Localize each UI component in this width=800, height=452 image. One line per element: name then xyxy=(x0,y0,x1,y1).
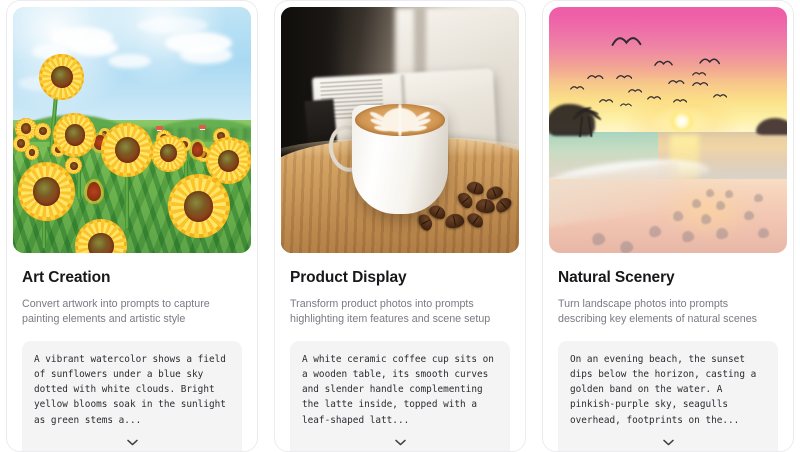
palm-trees xyxy=(549,100,613,137)
card-description: Turn landscape photos into prompts descr… xyxy=(558,297,778,328)
chevron-down-icon xyxy=(395,439,406,446)
seagull-icon xyxy=(599,96,613,106)
prompt-text: A vibrant watercolor shows a field of su… xyxy=(34,352,230,428)
card-product-display[interactable]: Product Display Transform product photos… xyxy=(274,0,526,452)
card-description: Convert artwork into prompts to capture … xyxy=(22,297,242,328)
card-image-product-display xyxy=(281,7,519,253)
seagull-icon xyxy=(570,83,584,93)
sunflower-field-illustration xyxy=(13,7,251,253)
card-body-art-creation: Art Creation Convert artwork into prompt… xyxy=(7,253,257,452)
seagull-icon xyxy=(692,69,706,79)
card-body-natural-scenery: Natural Scenery Turn landscape photos in… xyxy=(543,253,793,452)
card-body-product-display: Product Display Transform product photos… xyxy=(275,253,525,452)
expand-prompt-button[interactable] xyxy=(302,432,498,452)
seagull-icon xyxy=(628,86,642,96)
expand-prompt-button[interactable] xyxy=(570,432,766,452)
card-image-natural-scenery xyxy=(549,7,787,253)
prompt-preview-box[interactable]: On an evening beach, the sunset dips bel… xyxy=(558,341,778,452)
seagull-icon xyxy=(616,71,633,83)
card-title: Art Creation xyxy=(22,269,242,288)
chevron-down-icon xyxy=(127,439,138,446)
seagull-icon xyxy=(654,56,673,71)
seagull-icon xyxy=(611,32,642,52)
card-natural-scenery[interactable]: Natural Scenery Turn landscape photos in… xyxy=(542,0,794,452)
card-grid: Art Creation Convert artwork into prompt… xyxy=(0,0,800,452)
prompt-text: On an evening beach, the sunset dips bel… xyxy=(570,352,766,428)
seagull-icon xyxy=(699,54,720,69)
card-title: Product Display xyxy=(290,269,510,288)
coffee-cup-photo xyxy=(281,7,519,253)
expand-prompt-button[interactable] xyxy=(34,432,230,452)
beach-sunset-photo xyxy=(549,7,787,253)
seagull-icon xyxy=(673,96,687,106)
card-description: Transform product photos into prompts hi… xyxy=(290,297,510,328)
card-art-creation[interactable]: Art Creation Convert artwork into prompt… xyxy=(6,0,258,452)
seagull-icon xyxy=(587,71,604,83)
card-title: Natural Scenery xyxy=(558,269,778,288)
seagull-icon xyxy=(668,76,685,88)
seagull-icon xyxy=(620,100,632,110)
prompt-preview-box[interactable]: A vibrant watercolor shows a field of su… xyxy=(22,341,242,452)
chevron-down-icon xyxy=(663,439,674,446)
seagull-icon xyxy=(713,91,727,101)
card-image-art-creation xyxy=(13,7,251,253)
prompt-text: A white ceramic coffee cup sits on a woo… xyxy=(302,352,498,428)
prompt-preview-box[interactable]: A white ceramic coffee cup sits on a woo… xyxy=(290,341,510,452)
seagull-icon xyxy=(692,78,709,90)
seagull-icon xyxy=(647,93,661,103)
